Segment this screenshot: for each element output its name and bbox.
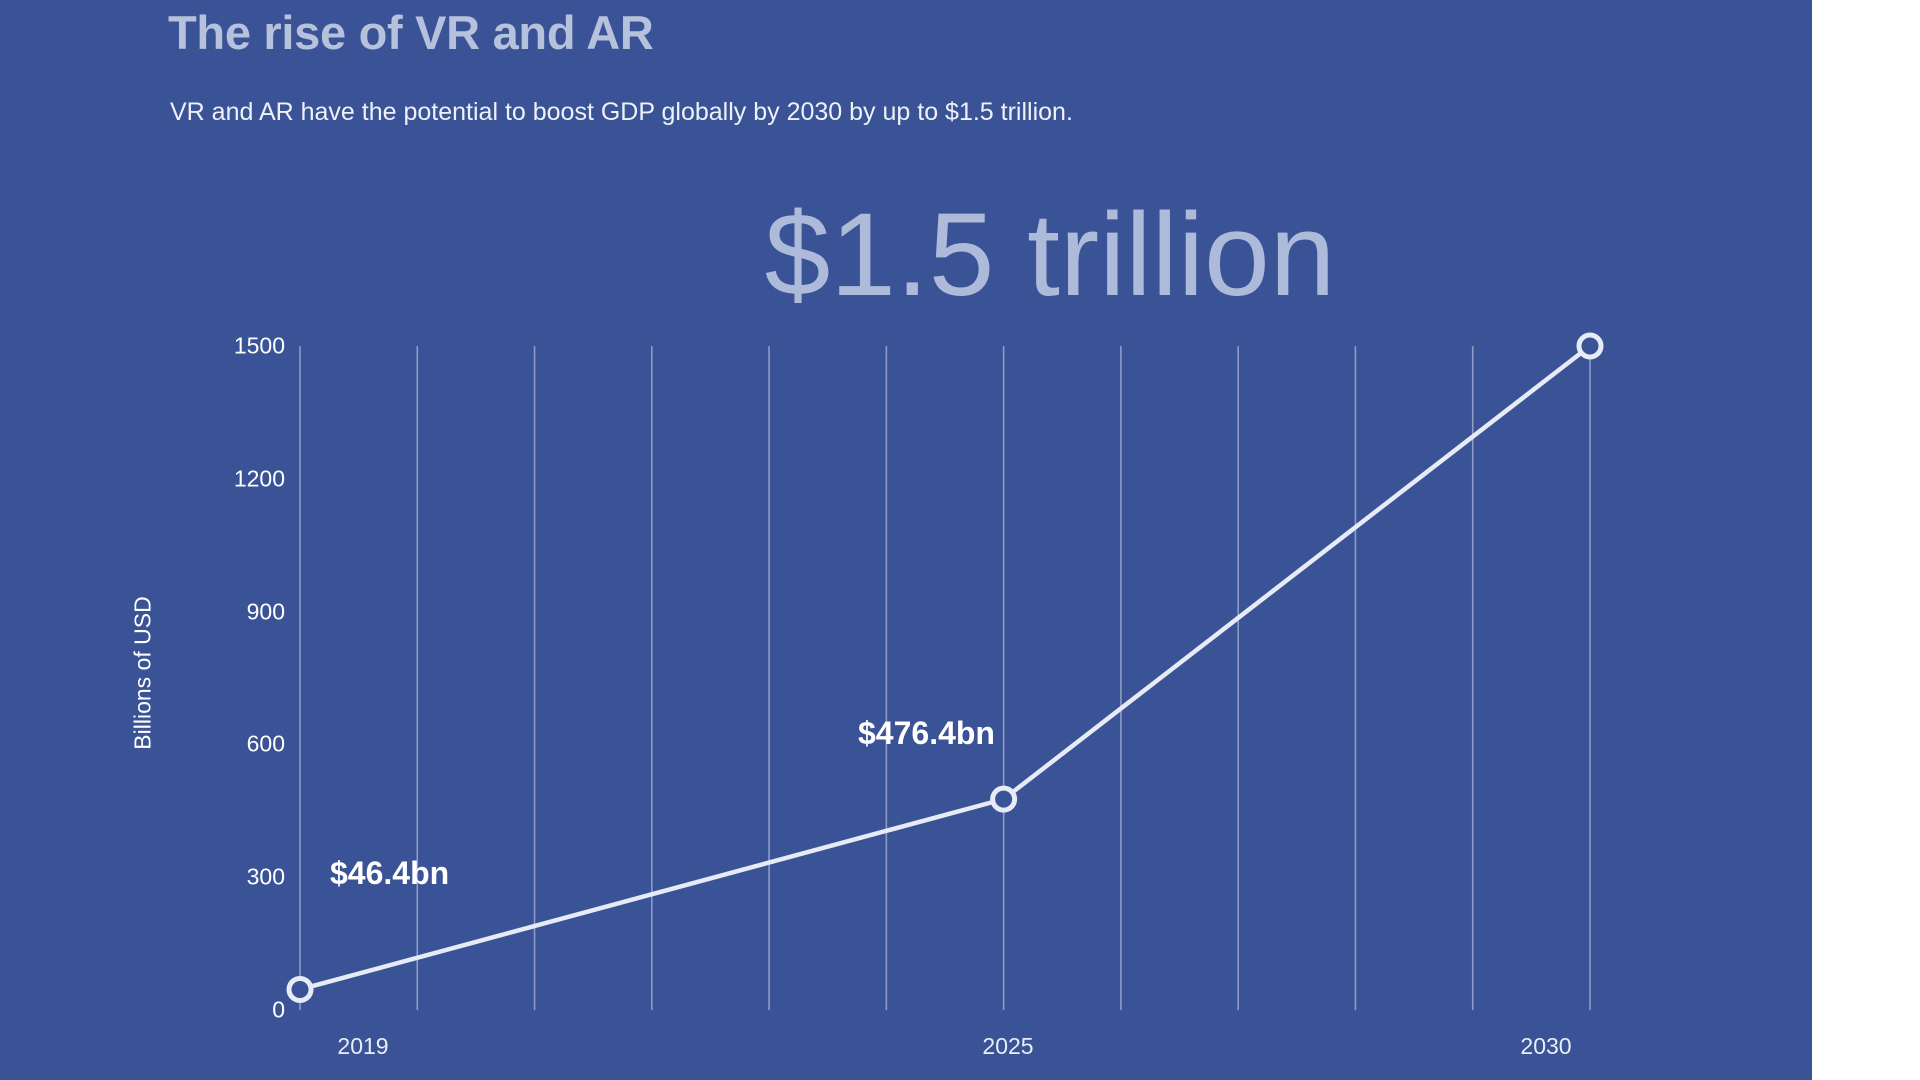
y-tick-0: 0 [272, 997, 285, 1024]
page-subtitle: VR and AR have the potential to boost GD… [170, 98, 1073, 127]
line-chart-svg [300, 346, 1590, 1010]
x-tick-2019: 2019 [337, 1033, 388, 1060]
y-tick-600: 600 [247, 731, 285, 758]
slide-canvas: The rise of VR and AR VR and AR have the… [0, 0, 1920, 1080]
page-title: The rise of VR and AR [168, 5, 654, 60]
data-point-2025[interactable] [993, 788, 1015, 810]
data-point-2030[interactable] [1579, 335, 1601, 357]
y-tick-300: 300 [247, 864, 285, 891]
y-axis-title: Billions of USD [130, 596, 157, 749]
plot-area [300, 346, 1590, 1010]
vertical-gridlines [300, 346, 1590, 1010]
x-tick-2025: 2025 [982, 1033, 1033, 1060]
data-label-2019: $46.4bn [330, 855, 449, 892]
series-line [300, 346, 1590, 989]
data-point-2019[interactable] [289, 978, 311, 1000]
x-tick-2030: 2030 [1520, 1033, 1571, 1060]
callout-value: $1.5 trillion [765, 196, 1336, 314]
series-markers [289, 335, 1601, 1000]
data-label-2025: $476.4bn [858, 715, 995, 752]
y-tick-1500: 1500 [234, 333, 285, 360]
y-tick-1200: 1200 [234, 465, 285, 492]
y-tick-900: 900 [247, 598, 285, 625]
chart-panel: The rise of VR and AR VR and AR have the… [0, 0, 1812, 1080]
